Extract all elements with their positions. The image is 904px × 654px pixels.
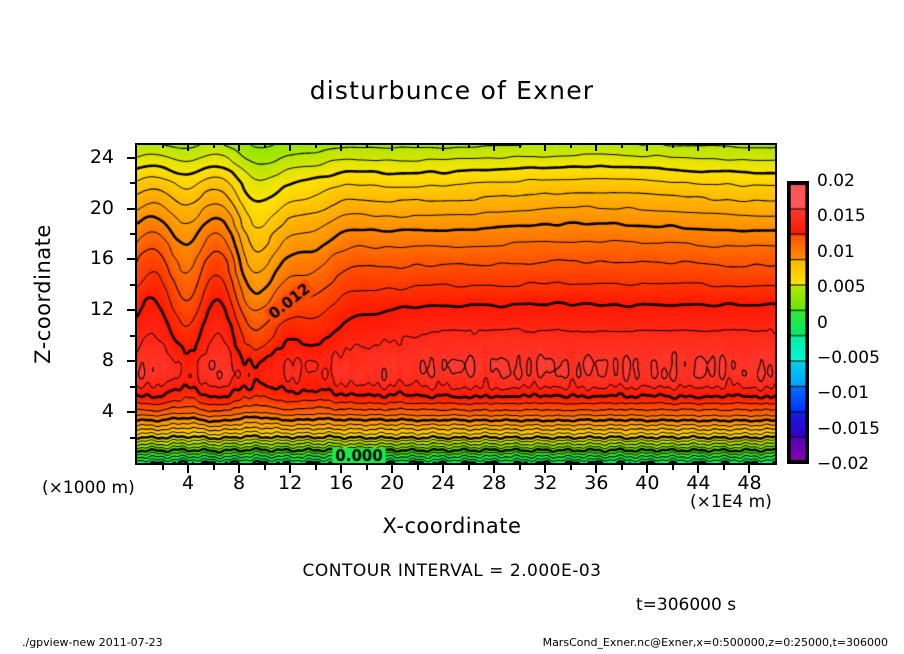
x-tick-top-8: [238, 143, 240, 151]
y-tick-minor: [130, 182, 135, 184]
x-tick-top-12: [289, 143, 291, 151]
x-tick-label: 20: [370, 472, 414, 494]
y-axis-unit-label: (×1000 m): [42, 478, 135, 498]
colorbar-gradient: [787, 181, 809, 464]
y-tick-16: [127, 258, 135, 260]
page-title: disturbunce of Exner: [0, 76, 904, 105]
x-tick-top-24: [442, 143, 444, 151]
x-tick-top-36: [595, 143, 597, 151]
colorbar-tick-label: −0.005: [817, 348, 880, 368]
x-tick-label: 12: [268, 472, 312, 494]
x-tick-top-28: [493, 143, 495, 151]
y-tick-12: [127, 309, 135, 311]
x-tick-minor: [417, 143, 419, 148]
colorbar-tick-label: 0: [817, 313, 828, 333]
x-tick-top-4: [187, 143, 189, 151]
y-tick-minor: [130, 335, 135, 337]
y-tick-8: [127, 360, 135, 362]
x-tick-minor: [672, 143, 674, 148]
y-tick-label: 8: [80, 349, 114, 371]
x-tick-minor: [672, 465, 674, 470]
x-tick-label: 16: [319, 472, 363, 494]
y-tick-label: 12: [80, 298, 114, 320]
x-tick-top-20: [391, 143, 393, 151]
x-tick-minor: [468, 465, 470, 470]
x-tick-label: 32: [523, 472, 567, 494]
x-tick-top-44: [697, 143, 699, 151]
x-tick-label: 8: [217, 472, 261, 494]
x-tick-minor: [468, 143, 470, 148]
x-tick-top-32: [544, 143, 546, 151]
y-tick-minor: [130, 437, 135, 439]
y-tick-minor: [130, 386, 135, 388]
colorbar-tick-label: 0.015: [817, 206, 866, 226]
x-tick-minor: [366, 465, 368, 470]
colorbar-tick-label: 0.02: [817, 171, 855, 191]
footer-command-text: ./gpview-new 2011-07-23: [22, 636, 163, 649]
x-tick-minor: [264, 143, 266, 148]
x-tick-top-16: [340, 143, 342, 151]
x-tick-minor: [315, 465, 317, 470]
x-tick-minor: [723, 465, 725, 470]
colorbar-tick-label: −0.01: [817, 383, 869, 403]
x-tick-minor: [264, 465, 266, 470]
y-tick-label: 16: [80, 247, 114, 269]
colorbar-tick-label: −0.02: [817, 454, 869, 474]
contour-field-canvas: [137, 145, 775, 463]
x-tick-label: 48: [727, 472, 771, 494]
x-tick-minor: [570, 465, 572, 470]
x-tick-minor: [519, 143, 521, 148]
y-axis-title: Z-coordinate: [31, 199, 55, 389]
x-axis-unit-label: (×1E4 m): [690, 492, 772, 512]
y-tick-20: [127, 208, 135, 210]
y-tick-label: 20: [80, 197, 114, 219]
colorbar-tick-label: −0.015: [817, 419, 880, 439]
x-tick-label: 40: [625, 472, 669, 494]
x-tick-label: 28: [472, 472, 516, 494]
y-tick-24: [127, 157, 135, 159]
x-tick-minor: [162, 143, 164, 148]
colorbar: [787, 181, 809, 464]
y-tick-minor: [130, 284, 135, 286]
x-tick-label: 36: [574, 472, 618, 494]
contour-plot-area: [135, 143, 777, 465]
x-tick-minor: [570, 143, 572, 148]
x-tick-minor: [366, 143, 368, 148]
y-tick-4: [127, 411, 135, 413]
x-tick-minor: [315, 143, 317, 148]
y-tick-label: 24: [80, 146, 114, 168]
time-annotation: t=306000 s: [636, 595, 736, 615]
y-tick-label: 4: [80, 400, 114, 422]
footer-source-text: MarsCond_Exner.nc@Exner,x=0:500000,z=0:2…: [543, 636, 888, 649]
x-tick-minor: [417, 465, 419, 470]
x-tick-minor: [162, 465, 164, 470]
x-tick-minor: [621, 143, 623, 148]
x-tick-top-48: [748, 143, 750, 151]
colorbar-tick-label: 0.005: [817, 277, 866, 297]
y-tick-minor: [130, 233, 135, 235]
x-tick-minor: [723, 143, 725, 148]
x-tick-label: 24: [421, 472, 465, 494]
x-tick-label: 44: [676, 472, 720, 494]
x-tick-top-40: [646, 143, 648, 151]
x-tick-minor: [519, 465, 521, 470]
x-tick-minor: [621, 465, 623, 470]
colorbar-tick-label: 0.01: [817, 242, 855, 262]
x-axis-title: X-coordinate: [0, 514, 904, 538]
x-tick-label: 4: [166, 472, 210, 494]
x-tick-minor: [213, 465, 215, 470]
x-tick-minor: [213, 143, 215, 148]
contour-interval-note: CONTOUR INTERVAL = 2.000E-03: [0, 561, 904, 581]
